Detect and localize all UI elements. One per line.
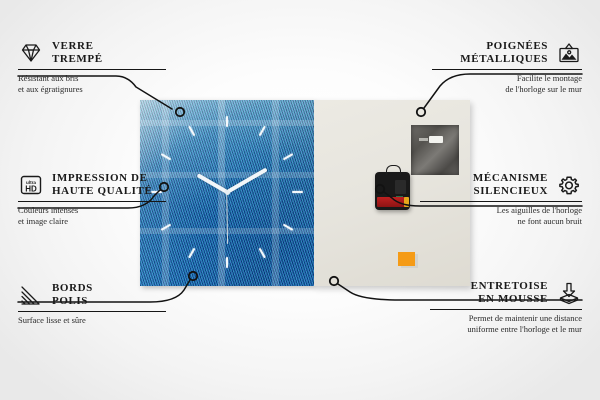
gear-icon (556, 173, 582, 197)
callout-rule (18, 311, 166, 312)
clock-tick (259, 126, 266, 137)
callout-description: Les aiguilles de l'horloge ne font aucun… (420, 205, 582, 227)
metal-hanger-plate (411, 125, 459, 175)
clock-minute-hand (226, 167, 268, 193)
callout-title: ENTRETOISE EN MOUSSE (471, 280, 548, 306)
foam-pad-arrow-icon (556, 281, 582, 305)
clock-second-hand (226, 192, 228, 244)
callout-description: Surface lisse et sûre (18, 315, 168, 326)
callout-description: Permet de maintenir une distance uniform… (430, 313, 582, 335)
callout-hd-print: ultra HD IMPRESSION DE HAUTE QUALITÉ Cou… (18, 172, 168, 227)
callout-rule (18, 201, 166, 202)
callout-foam-spacer: ENTRETOISE EN MOUSSE Permet de maintenir… (430, 280, 582, 335)
clock-tick (283, 224, 294, 231)
callout-rule (430, 309, 582, 310)
callout-description: Résistant aux bris et aux égratignures (18, 73, 168, 95)
clock-tick (259, 248, 266, 259)
clock-tick (161, 153, 172, 160)
clock-tick (283, 153, 294, 160)
callout-tempered-glass: VERRE TREMPÉ Résistant aux bris et aux é… (18, 40, 168, 95)
infographic-canvas: VERRE TREMPÉ Résistant aux bris et aux é… (0, 0, 600, 400)
ultra-hd-icon: ultra HD (18, 173, 44, 197)
clock-tick (292, 191, 303, 193)
clock-center-cap (225, 190, 230, 195)
polished-edge-icon (18, 283, 44, 307)
callout-metal-handles: POIGNÉES MÉTALLIQUES Facilite le montage… (432, 40, 582, 95)
callout-silent-mechanism: MÉCANISME SILENCIEUX Les aiguilles de l'… (420, 172, 582, 227)
callout-title: BORDS POLIS (52, 282, 93, 308)
foam-spacer-pad (398, 252, 415, 266)
clock-mechanism (375, 172, 410, 210)
hanging-frame-icon (556, 41, 582, 65)
clock-tick (188, 126, 195, 137)
clock-tick (188, 248, 195, 259)
clock-hour-hand (197, 173, 228, 193)
clock-tick (226, 257, 228, 268)
callout-title: IMPRESSION DE HAUTE QUALITÉ (52, 172, 152, 198)
diamond-icon (18, 41, 44, 65)
callout-rule (432, 69, 582, 70)
callout-rule (420, 201, 582, 202)
clock-tick (226, 116, 228, 127)
callout-description: Facilite le montage de l'horloge sur le … (432, 73, 582, 95)
svg-text:HD: HD (25, 184, 37, 193)
callout-title: MÉCANISME SILENCIEUX (473, 172, 548, 198)
callout-rule (18, 69, 166, 70)
callout-description: Couleurs intenses et image claire (18, 205, 168, 227)
callout-title: VERRE TREMPÉ (52, 40, 103, 66)
callout-polished-edges: BORDS POLIS Surface lisse et sûre (18, 282, 168, 326)
callout-title: POIGNÉES MÉTALLIQUES (460, 40, 548, 66)
